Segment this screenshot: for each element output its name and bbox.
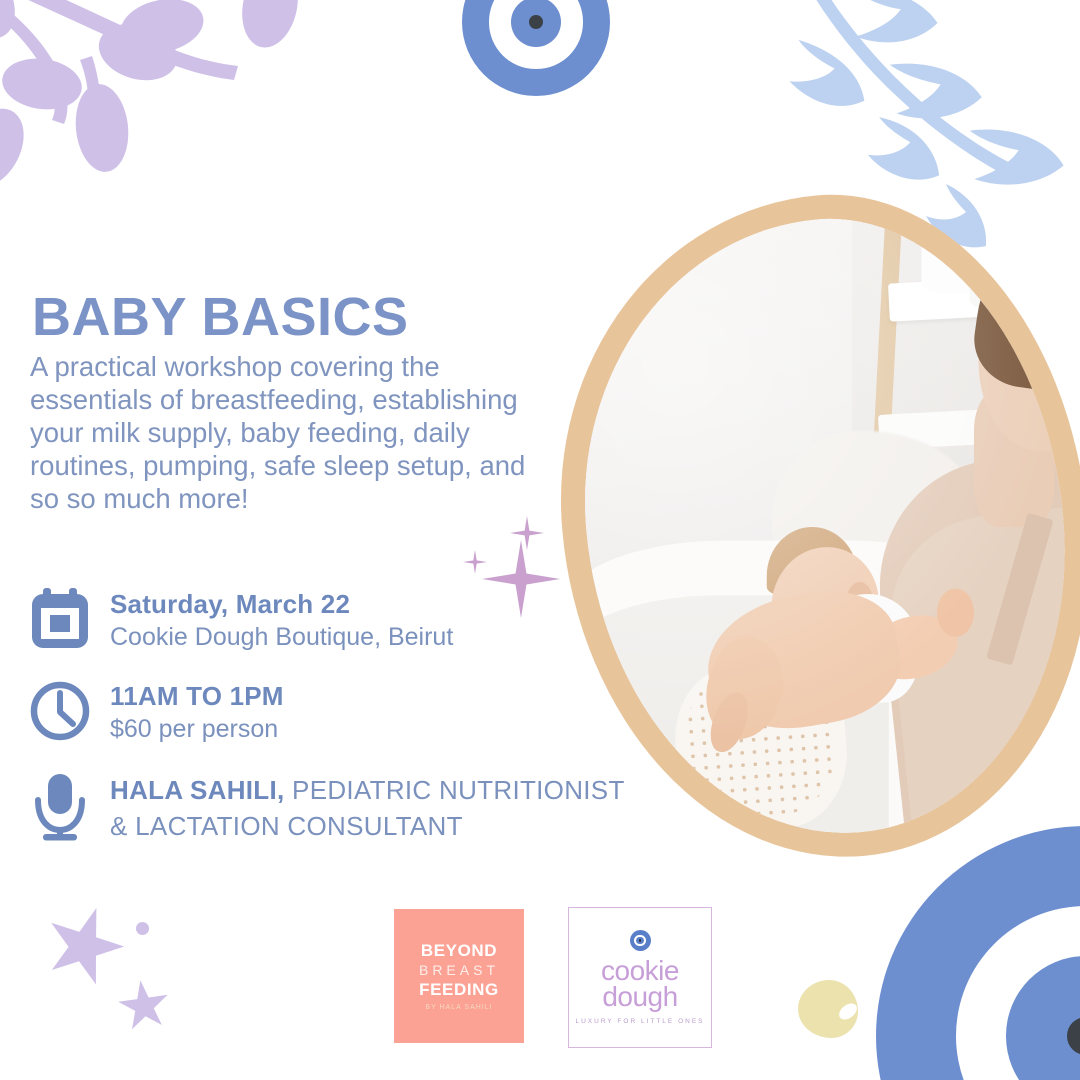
logo-bbf-line1: BEYOND [421, 941, 497, 960]
logo-cd-tagline: LUXURY FOR LITTLE ONES [575, 1018, 704, 1025]
logo-cookie-dough: cookie dough LUXURY FOR LITTLE ONES [568, 907, 712, 1048]
speaker-credentials: HALA SAHILI, PEDIATRIC NUTRITIONIST & LA… [110, 772, 625, 844]
logo-cd-line1: cookie [601, 958, 679, 983]
logo-cd-line2: dough [602, 983, 677, 1010]
detail-row-speaker: HALA SAHILI, PEDIATRIC NUTRITIONIST & LA… [30, 772, 625, 844]
detail-time-primary: 11AM TO 1PM [110, 680, 284, 713]
detail-date-secondary: Cookie Dough Boutique, Beirut [110, 621, 453, 654]
logo-bbf-byline: BY HALA SAHILI [425, 1004, 492, 1011]
clock-icon [30, 680, 94, 742]
speaker-name: HALA SAHILI, [110, 775, 285, 805]
poster-description: A practical workshop covering the essent… [30, 350, 530, 515]
detail-time-secondary: $60 per person [110, 713, 284, 746]
speaker-role-line2: & LACTATION CONSULTANT [110, 811, 463, 841]
logo-bbf-line3: FEEDING [419, 980, 499, 999]
detail-row-time: 11AM TO 1PM $60 per person [30, 680, 284, 746]
page-title: BABY BASICS [32, 286, 409, 348]
logo-beyond-breast-feeding: BEYOND BREAST FEEDING BY HALA SAHILI [394, 909, 524, 1043]
evil-eye-icon-logo [630, 930, 651, 951]
detail-date-primary: Saturday, March 22 [110, 588, 453, 621]
poster-canvas: BABY BASICS A practical workshop coverin… [0, 0, 1080, 1080]
detail-row-date: Saturday, March 22 Cookie Dough Boutique… [30, 588, 453, 654]
speaker-role-line1: PEDIATRIC NUTRITIONIST [285, 775, 625, 805]
calendar-icon [30, 588, 94, 650]
microphone-icon [30, 772, 94, 842]
logo-bbf-line2: BREAST [419, 960, 499, 980]
